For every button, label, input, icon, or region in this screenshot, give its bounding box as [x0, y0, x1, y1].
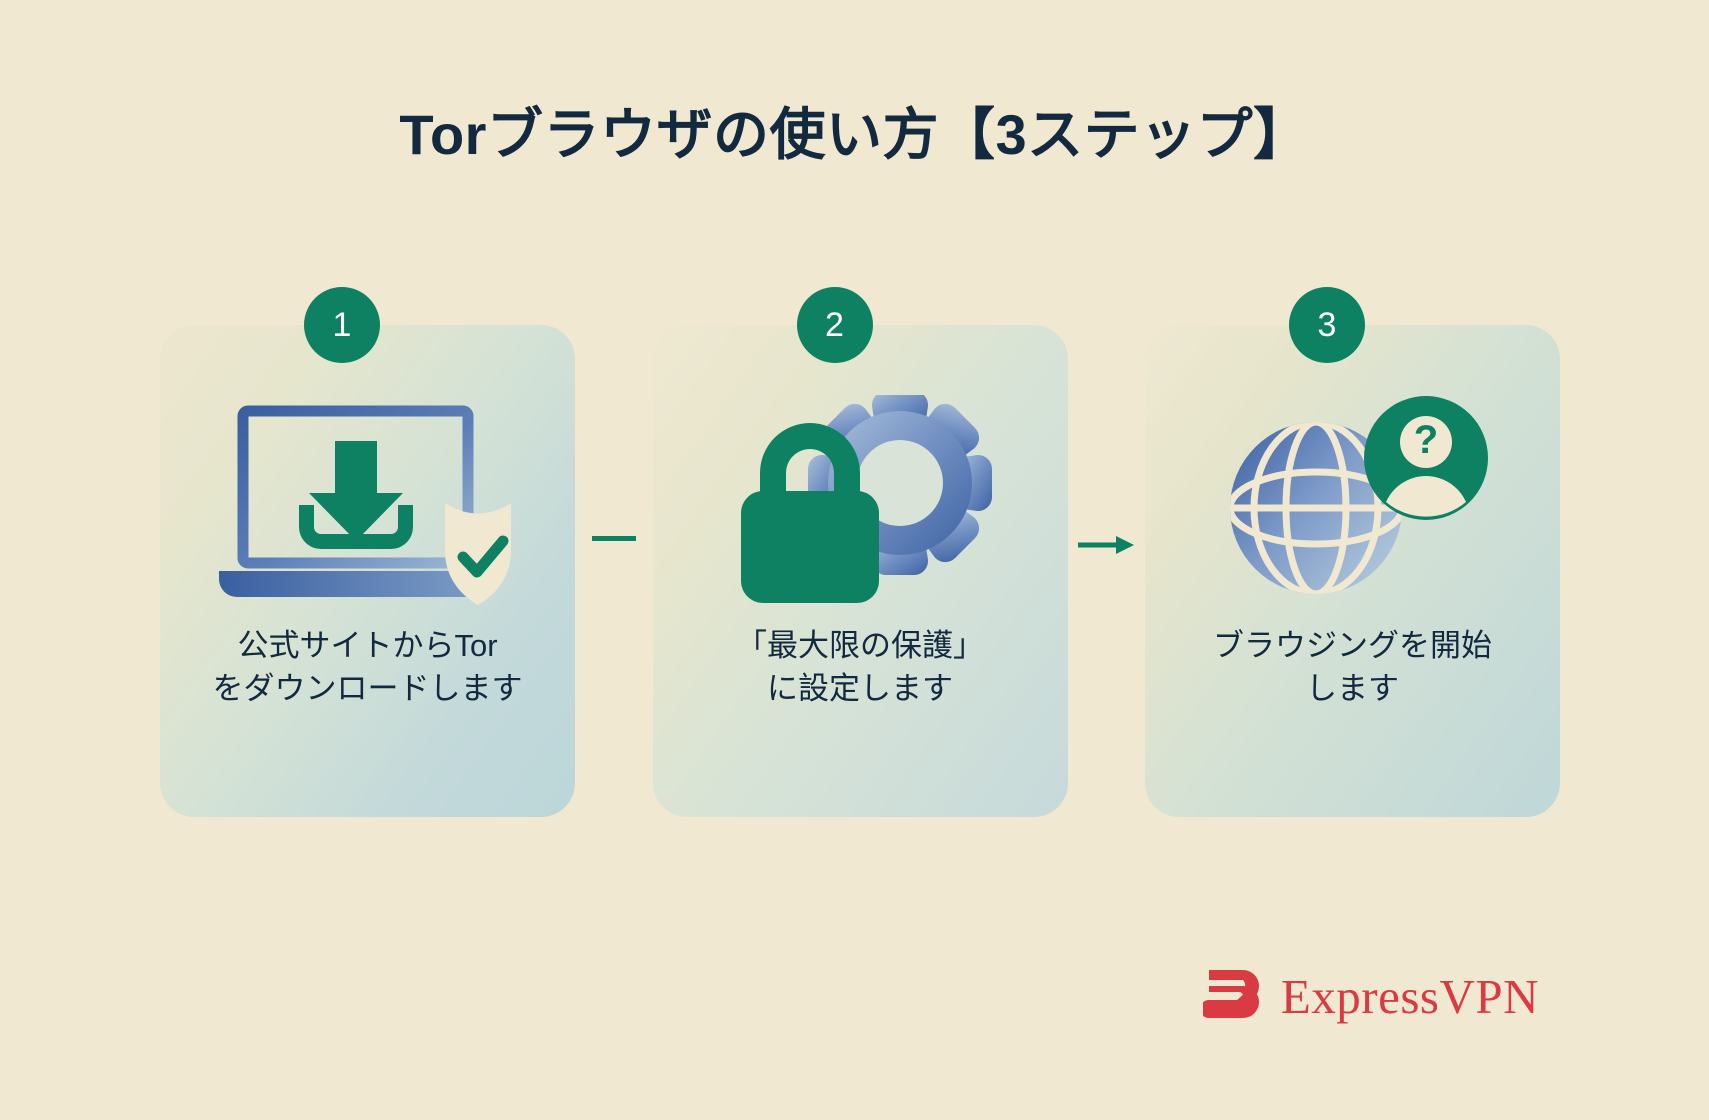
step-card-2: 2	[653, 325, 1068, 817]
infographic-canvas: Torブラウザの使い方【3ステップ】 1	[0, 0, 1709, 1120]
connector-slot-2	[1068, 325, 1146, 817]
step-caption-3-line-2: します	[1167, 668, 1538, 711]
connector-slot-1	[575, 325, 653, 817]
page-title: Torブラウザの使い方【3ステップ】	[0, 90, 1709, 171]
step-caption-3-line-1: ブラウジングを開始	[1167, 625, 1538, 668]
lock-gear-icon	[653, 377, 1068, 627]
step-number-2: 2	[825, 308, 844, 342]
brand-name: ExpressVPN	[1281, 972, 1539, 1021]
step-caption-2-line-1: 「最大限の保護」	[675, 625, 1046, 668]
step-caption-2: 「最大限の保護」 に設定します	[675, 625, 1046, 711]
step-number-1: 1	[333, 308, 352, 342]
connector-line	[592, 532, 636, 551]
step-card-3: 3	[1145, 325, 1560, 817]
brand-logo: ExpressVPN	[1203, 963, 1539, 1030]
step-card-1: 1	[160, 325, 575, 817]
svg-text:?: ?	[1413, 418, 1437, 462]
expressvpn-logo-icon	[1203, 963, 1265, 1030]
step-badge-2: 2	[797, 287, 873, 363]
steps-row: 1	[160, 325, 1560, 850]
laptop-download-shield-icon	[160, 377, 575, 627]
step-caption-1-line-1: 公式サイトからTor	[182, 625, 553, 668]
step-badge-1: 1	[304, 287, 380, 363]
connector-arrow	[1078, 532, 1134, 563]
step-caption-2-line-2: に設定します	[675, 668, 1046, 711]
step-caption-1-line-2: をダウンロードします	[182, 668, 553, 711]
step-caption-3: ブラウジングを開始 します	[1167, 625, 1538, 711]
step-badge-3: 3	[1289, 287, 1365, 363]
step-number-3: 3	[1318, 308, 1337, 342]
globe-anonymous-user-icon: ?	[1145, 377, 1560, 627]
step-caption-1: 公式サイトからTor をダウンロードします	[182, 625, 553, 711]
